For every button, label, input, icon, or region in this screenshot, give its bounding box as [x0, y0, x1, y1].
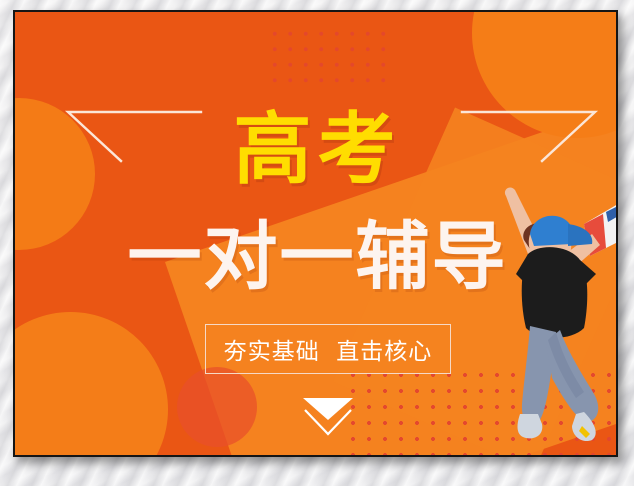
poster-frame: 高考 一对一辅导 夯实基础 直击核心 — [13, 10, 618, 457]
subtitle-text: 夯实基础 直击核心 — [224, 332, 433, 366]
down-chevron-icon — [295, 394, 361, 438]
headline-block: 高考 一对一辅导 夯实基础 直击核心 — [15, 12, 616, 455]
poster-canvas: 高考 一对一辅导 夯实基础 直击核心 — [15, 12, 616, 455]
page-title-secondary: 一对一辅导 — [15, 215, 616, 299]
page-title-primary: 高考 — [15, 107, 616, 193]
poster-page: 高考 一对一辅导 夯实基础 直击核心 — [0, 0, 634, 486]
subtitle-box: 夯实基础 直击核心 — [205, 324, 451, 374]
